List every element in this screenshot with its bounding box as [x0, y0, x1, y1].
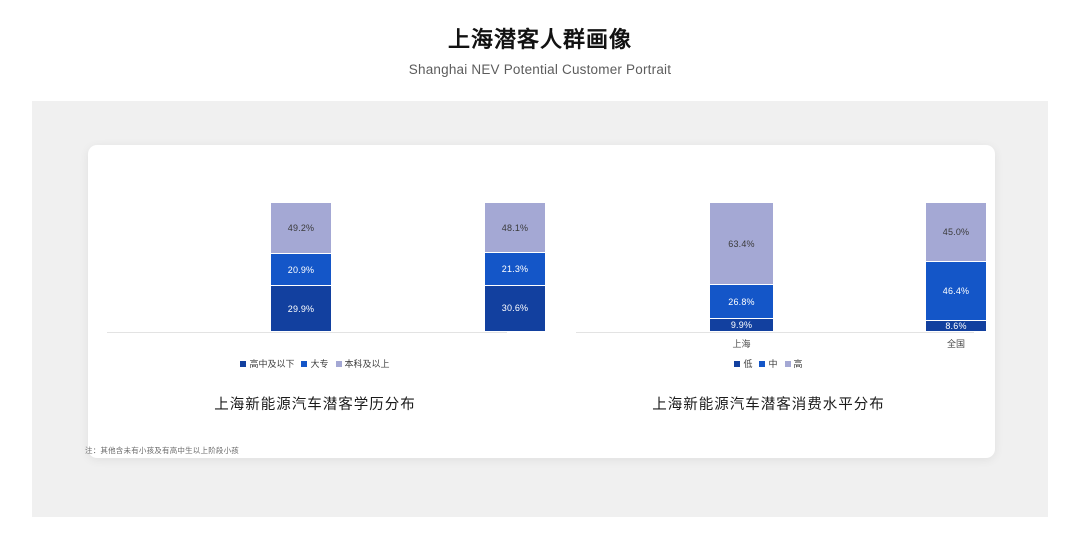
- legend-swatch-icon: [785, 361, 791, 367]
- x-axis-label-1: 全国: [926, 337, 986, 350]
- bar-segment-low[interactable]: 9.9%: [710, 318, 773, 331]
- bar-segment-label: 26.8%: [728, 297, 755, 307]
- chart-consumption-title: 上海新能源汽车潜客消费水平分布: [542, 393, 995, 414]
- legend-label: 高: [794, 357, 803, 370]
- page-title: 上海潜客人群画像: [0, 26, 1080, 54]
- legend-item[interactable]: 中: [759, 357, 777, 370]
- bar-segment-label: 8.6%: [945, 321, 966, 331]
- bar-consumption-1[interactable]: 45.0% 46.4% 8.6%: [926, 203, 986, 331]
- bar-segment-label: 29.9%: [288, 304, 315, 314]
- bar-segment-mid[interactable]: 26.8%: [710, 284, 773, 318]
- legend-label: 高中及以下: [249, 357, 294, 370]
- bar-segment-low[interactable]: 30.6%: [485, 285, 545, 331]
- bar-segment-mid[interactable]: 20.9%: [271, 253, 331, 285]
- x-axis-label-0: 上海: [710, 337, 773, 350]
- legend-item[interactable]: 低: [734, 357, 752, 370]
- bar-segment-label: 48.1%: [502, 223, 529, 233]
- chart-education-legend: 高中及以下 大专 本科及以上: [88, 357, 542, 370]
- bar-segment-high[interactable]: 48.1%: [485, 203, 545, 252]
- legend-swatch-icon: [759, 361, 765, 367]
- bar-segment-label: 63.4%: [728, 239, 755, 249]
- charts-card: 49.2% 20.9% 29.9% 48.1% 21.3%: [88, 145, 995, 458]
- bar-education-1[interactable]: 48.1% 21.3% 30.6%: [485, 203, 545, 331]
- bar-segment-label: 45.0%: [943, 227, 970, 237]
- legend-label: 中: [768, 357, 777, 370]
- legend-item[interactable]: 高: [785, 357, 803, 370]
- chart-consumption: 63.4% 26.8% 9.9% 上海 45.0% 46.4%: [542, 145, 995, 458]
- bar-segment-high[interactable]: 49.2%: [271, 203, 331, 253]
- page-subtitle: Shanghai NEV Potential Customer Portrait: [0, 61, 1080, 78]
- page-header: 上海潜客人群画像 Shanghai NEV Potential Customer…: [0, 0, 1080, 78]
- legend-item[interactable]: 高中及以下: [240, 357, 294, 370]
- bar-segment-low[interactable]: 8.6%: [926, 320, 986, 331]
- chart-consumption-plot: 63.4% 26.8% 9.9% 上海 45.0% 46.4%: [542, 145, 995, 335]
- legend-swatch-icon: [301, 361, 307, 367]
- legend-label: 大专: [310, 357, 328, 370]
- legend-swatch-icon: [734, 361, 740, 367]
- bar-segment-mid[interactable]: 46.4%: [926, 261, 986, 320]
- legend-item[interactable]: 本科及以上: [336, 357, 390, 370]
- bar-segment-mid[interactable]: 21.3%: [485, 252, 545, 285]
- bar-segment-high[interactable]: 63.4%: [710, 203, 773, 284]
- bar-segment-high[interactable]: 45.0%: [926, 203, 986, 261]
- bar-segment-label: 49.2%: [288, 223, 315, 233]
- chart-consumption-axis: [576, 332, 974, 333]
- chart-consumption-legend: 低 中 高: [542, 357, 995, 370]
- legend-swatch-icon: [240, 361, 246, 367]
- bar-segment-label: 20.9%: [288, 265, 315, 275]
- chart-education-plot: 49.2% 20.9% 29.9% 48.1% 21.3%: [88, 145, 542, 335]
- legend-item[interactable]: 大专: [301, 357, 328, 370]
- bar-segment-label: 46.4%: [943, 286, 970, 296]
- bar-segment-low[interactable]: 29.9%: [271, 285, 331, 331]
- footnote: 注：其他含未有小孩及有高中生以上阶段小孩: [85, 445, 239, 456]
- bar-segment-label: 21.3%: [502, 264, 529, 274]
- bar-education-0[interactable]: 49.2% 20.9% 29.9%: [271, 203, 331, 331]
- bar-segment-label: 9.9%: [731, 320, 752, 330]
- bar-segment-label: 30.6%: [502, 303, 529, 313]
- bar-consumption-0[interactable]: 63.4% 26.8% 9.9%: [710, 203, 773, 331]
- legend-label: 低: [743, 357, 752, 370]
- chart-education-axis: [107, 332, 507, 333]
- legend-swatch-icon: [336, 361, 342, 367]
- content-panel: 49.2% 20.9% 29.9% 48.1% 21.3%: [32, 101, 1048, 517]
- legend-label: 本科及以上: [345, 357, 390, 370]
- chart-education-title: 上海新能源汽车潜客学历分布: [88, 393, 542, 414]
- chart-education: 49.2% 20.9% 29.9% 48.1% 21.3%: [88, 145, 542, 458]
